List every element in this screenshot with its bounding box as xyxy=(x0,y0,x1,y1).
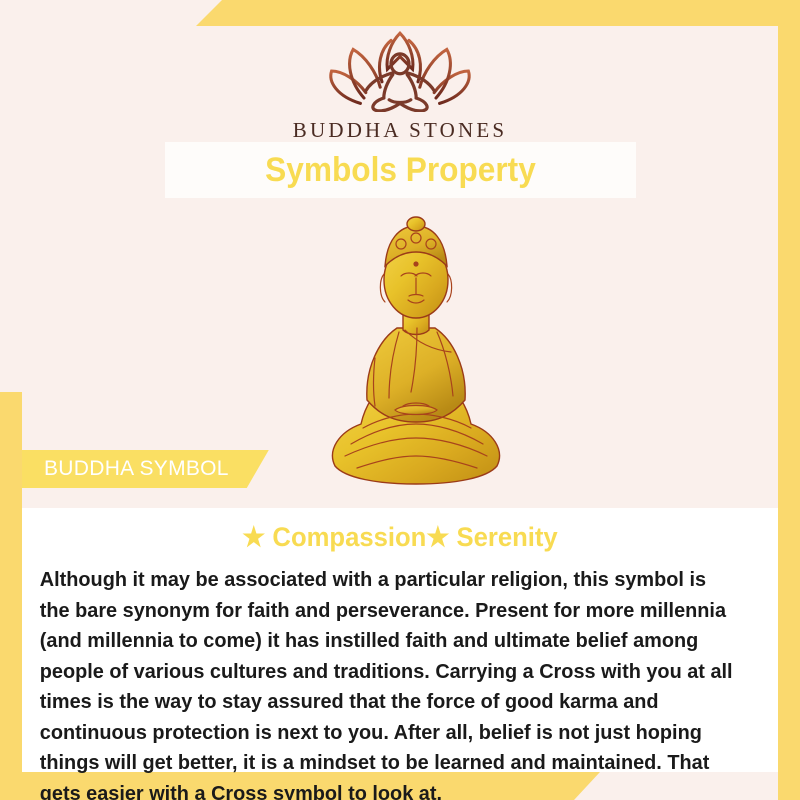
section-tag-label: BUDDHA SYMBOL xyxy=(44,457,229,481)
brand-logo-block: BUDDHA STONES xyxy=(0,26,800,143)
content-subtitle: ★ Compassion★ Serenity xyxy=(50,522,749,553)
page-title: Symbols Property xyxy=(265,151,536,190)
content-card: ★ Compassion★ Serenity Although it may b… xyxy=(22,508,778,772)
content-paragraph: Although it may be associated with a par… xyxy=(32,565,746,800)
golden-buddha-statue-illustration xyxy=(305,200,527,492)
promo-banner-page: BUDDHA STONES Symbols Property xyxy=(0,0,800,800)
lotus-meditation-icon xyxy=(310,26,490,112)
decorative-band-left xyxy=(0,392,22,800)
section-tag-buddha-symbol: BUDDHA SYMBOL xyxy=(22,450,269,488)
title-banner: Symbols Property xyxy=(165,142,636,198)
decorative-band-top xyxy=(0,0,800,26)
brand-wordmark: BUDDHA STONES xyxy=(293,118,508,143)
